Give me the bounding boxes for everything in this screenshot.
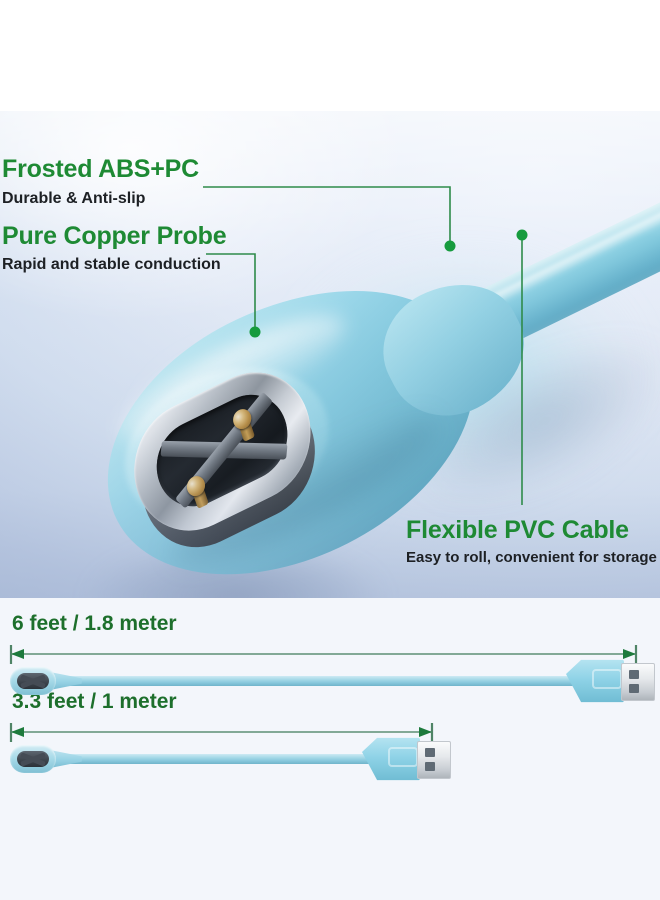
usb-a-connector-6ft (566, 659, 652, 703)
magnetic-end-oval-6ft (10, 667, 56, 695)
usb-slot-upper-3-3ft (425, 748, 435, 757)
usb-slot-upper-6ft (629, 670, 639, 679)
cable-length-panel (0, 598, 660, 900)
spec-cable-3-3ft (38, 754, 382, 764)
length-label-6ft: 6 feet / 1.8 meter (12, 612, 177, 636)
magnetic-end-3-3ft (10, 745, 68, 773)
usb-slot-lower-3-3ft (425, 762, 435, 771)
callout-title-pure-copper-probe: Pure Copper Probe (2, 222, 226, 251)
usb-slot-lower-6ft (629, 684, 639, 693)
callout-subtitle-pure-copper-probe: Rapid and stable conduction (2, 256, 221, 274)
usb-boot-emblem-3-3ft (388, 747, 418, 767)
callout-subtitle-frosted-abs-pc: Durable & Anti-slip (2, 190, 145, 208)
usb-boot-emblem-6ft (592, 669, 622, 689)
callout-subtitle-flexible-pvc-cable: Easy to roll, convenient for storage (406, 549, 657, 566)
magnetic-end-6ft (10, 667, 68, 695)
spec-cable-6ft (38, 676, 586, 686)
callout-title-frosted-abs-pc: Frosted ABS+PC (2, 155, 199, 184)
usb-metal-head-3-3ft (417, 741, 451, 779)
magnetic-end-oval-3-3ft (10, 745, 56, 773)
product-infographic: Frosted ABS+PC Durable & Anti-slip Pure … (0, 0, 660, 900)
usb-a-connector-3-3ft (362, 737, 448, 781)
callout-title-flexible-pvc-cable: Flexible PVC Cable (406, 516, 629, 545)
usb-metal-head-6ft (621, 663, 655, 701)
